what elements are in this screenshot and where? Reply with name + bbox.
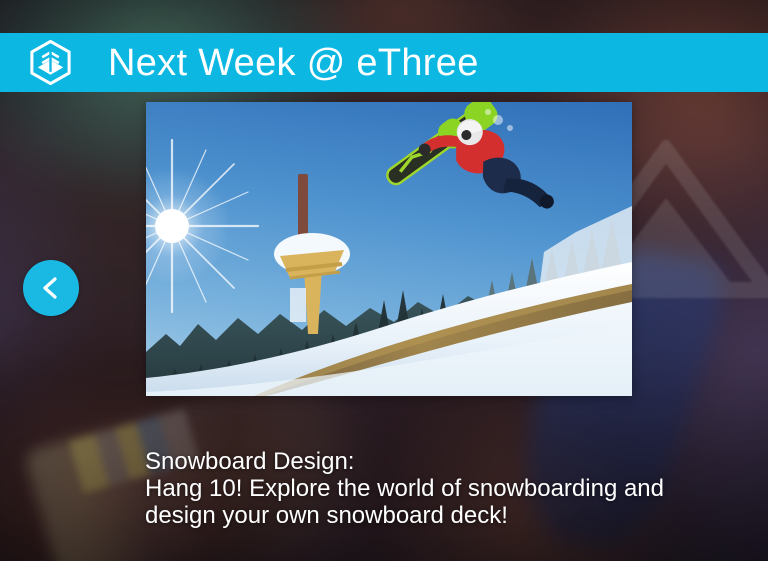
caption-line-title: Snowboard Design: (145, 448, 685, 475)
caption-line-body-2: design your own snowboard deck! (145, 502, 685, 529)
hexagon-layers-logo-icon (27, 39, 74, 86)
back-button[interactable] (23, 260, 79, 316)
snowboard-jump-photo[interactable] (146, 102, 632, 396)
caption-text: Snowboard Design: Hang 10! Explore the w… (145, 448, 685, 529)
chevron-left-icon (38, 275, 64, 301)
header-bar: Next Week @ eThree (0, 33, 768, 92)
caption-line-body-1: Hang 10! Explore the world of snowboardi… (145, 475, 685, 502)
photo-scene (146, 102, 632, 396)
page-title: Next Week @ eThree (108, 44, 479, 82)
app-screen: Next Week @ eThree (0, 0, 768, 561)
